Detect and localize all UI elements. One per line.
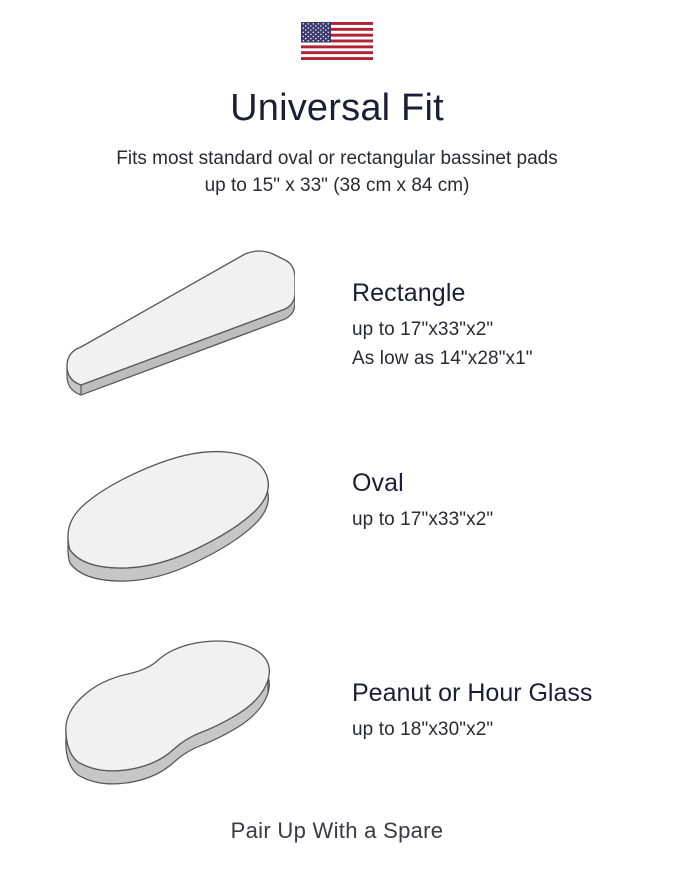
- rectangle-spec-2: As low as 14"x28"x1": [352, 345, 674, 374]
- oval-spec-1: up to 17"x33"x2": [352, 506, 674, 535]
- oval-art-container: [0, 444, 340, 599]
- page-subtitle: Fits most standard oval or rectangular b…: [0, 146, 674, 200]
- peanut-spec-1: up to 18"x30"x2": [352, 716, 674, 745]
- peanut-mattress-icon: [60, 636, 280, 796]
- shape-row-rectangle: Rectangle up to 17"x33"x2" As low as 14"…: [0, 248, 674, 428]
- subtitle-line-2: up to 15" x 33" (38 cm x 84 cm): [0, 173, 674, 200]
- rectangle-art-container: [0, 248, 340, 428]
- rectangle-mattress-icon: [45, 248, 295, 428]
- oval-mattress-icon: [60, 444, 280, 599]
- rectangle-text-block: Rectangle up to 17"x33"x2" As low as 14"…: [340, 248, 674, 373]
- rectangle-title: Rectangle: [352, 278, 674, 309]
- us-flag-icon: [301, 22, 373, 60]
- shape-row-oval: Oval up to 17"x33"x2": [0, 444, 674, 599]
- rectangle-spec-1: up to 17"x33"x2": [352, 316, 674, 345]
- universal-fit-infographic: Universal Fit Fits most standard oval or…: [0, 0, 674, 879]
- peanut-art-container: [0, 636, 340, 796]
- subtitle-line-1: Fits most standard oval or rectangular b…: [0, 146, 674, 173]
- flag-container: [0, 22, 674, 60]
- peanut-text-block: Peanut or Hour Glass up to 18"x30"x2": [340, 636, 674, 745]
- oval-title: Oval: [352, 468, 674, 499]
- peanut-title: Peanut or Hour Glass: [352, 678, 674, 709]
- footer-tagline: Pair Up With a Spare: [0, 818, 674, 844]
- shape-row-peanut: Peanut or Hour Glass up to 18"x30"x2": [0, 636, 674, 796]
- oval-text-block: Oval up to 17"x33"x2": [340, 444, 674, 535]
- page-title: Universal Fit: [0, 86, 674, 131]
